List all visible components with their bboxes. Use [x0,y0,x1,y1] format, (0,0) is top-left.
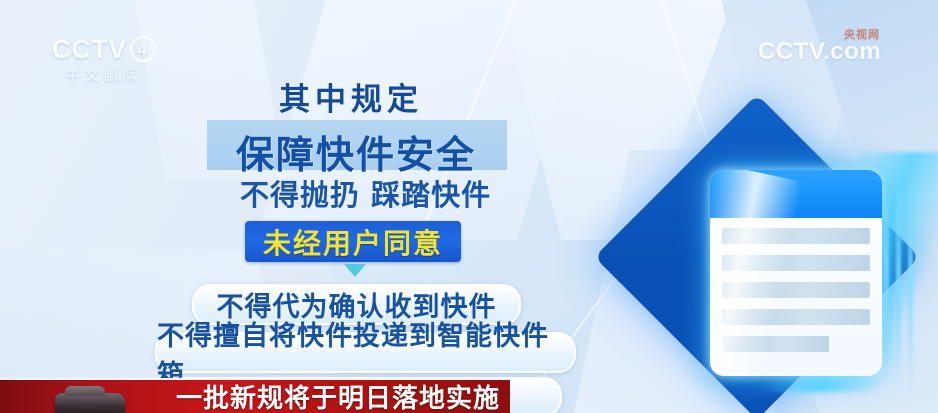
vehicle-graphic [55,393,125,413]
document-graphic [612,122,938,413]
headline-sub: 不得抛扔 踩踏快件 [240,172,491,214]
headline-main: 保障快件安全 [236,124,476,179]
document-text-line [722,255,870,271]
condition-box: 未经用户同意 [245,221,461,262]
light-ray [896,156,901,386]
document-header-bar [710,170,882,218]
document-text-line [722,228,870,244]
channel-subtitle: 中文国际 [52,65,156,85]
light-ray [908,162,913,392]
document-body [710,218,882,352]
rule-pill: 不得擅自将快件投递到智能快件箱 [155,332,576,373]
condition-label: 未经用户同意 [263,222,443,262]
document-text-line [722,336,829,352]
broadcast-screen: CCTV 4 中文国际 CCTV.com 央视网 其中规定 保障快件安全 不得抛… [0,0,938,413]
channel-logo-row: CCTV 4 [52,36,156,62]
document-text-line [722,309,870,325]
chevron-down-icon [344,264,366,277]
lower-third-title: 一批新规将于明日落地实施 [160,381,500,411]
channel-logo: CCTV 4 中文国际 [52,36,156,85]
headline-intro: 其中规定 [279,74,423,119]
document-text-line [722,282,870,298]
watermark-cn-text: 央视网 [844,26,880,42]
light-ray [884,150,889,380]
cctv-wordmark: CCTV [52,36,127,62]
watermark-text: CCTV.com [758,40,881,64]
channel-number-badge: 4 [130,36,156,62]
website-watermark: CCTV.com 央视网 [758,40,881,64]
document-icon [710,170,882,376]
